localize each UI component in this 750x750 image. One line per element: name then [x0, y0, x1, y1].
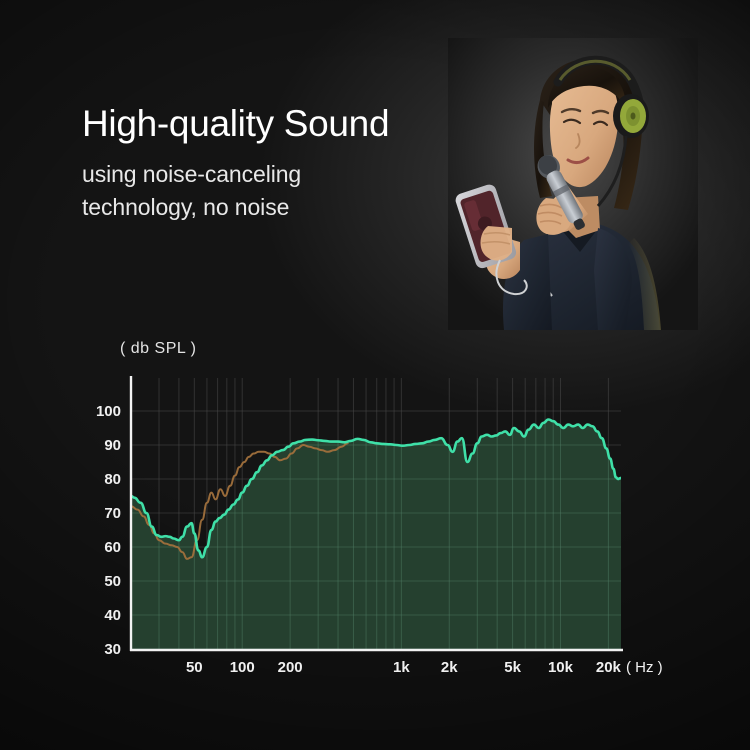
y-tick-label: 40: [104, 607, 121, 624]
frequency-response-chart: ( db SPL ) 10090807060504030501002001k2k…: [0, 330, 750, 690]
page-title: High-quality Sound: [82, 104, 472, 144]
x-tick-label: 10k: [548, 659, 574, 676]
y-tick-label: 100: [96, 403, 121, 420]
y-tick-label: 30: [104, 641, 121, 658]
x-tick-label: 100: [230, 659, 255, 676]
x-tick-label: 200: [278, 659, 303, 676]
x-tick-label: 1k: [393, 659, 410, 676]
y-tick-label: 70: [104, 505, 121, 522]
hero-subtitle-line2: technology, no noise: [82, 194, 289, 220]
x-axis-unit-label: ( Hz ): [626, 659, 663, 676]
y-tick-label: 50: [104, 573, 121, 590]
y-tick-label: 90: [104, 437, 121, 454]
hero-subtitle-line1: using noise-canceling: [82, 161, 301, 187]
x-tick-label: 5k: [504, 659, 521, 676]
headphones-model-photo: [448, 38, 698, 330]
y-tick-label: 60: [104, 539, 121, 556]
x-tick-label: 50: [186, 659, 203, 676]
x-tick-label: 2k: [441, 659, 458, 676]
promo-page: High-quality Sound using noise-canceling…: [0, 0, 750, 750]
x-tick-label: 20k: [596, 659, 622, 676]
y-tick-label: 80: [104, 471, 121, 488]
hero-subtitle: using noise-canceling technology, no noi…: [82, 158, 472, 223]
hero-text-block: High-quality Sound using noise-canceling…: [82, 104, 472, 223]
chart-plot-area: 10090807060504030501002001k2k5k10k20k( H…: [0, 330, 750, 690]
